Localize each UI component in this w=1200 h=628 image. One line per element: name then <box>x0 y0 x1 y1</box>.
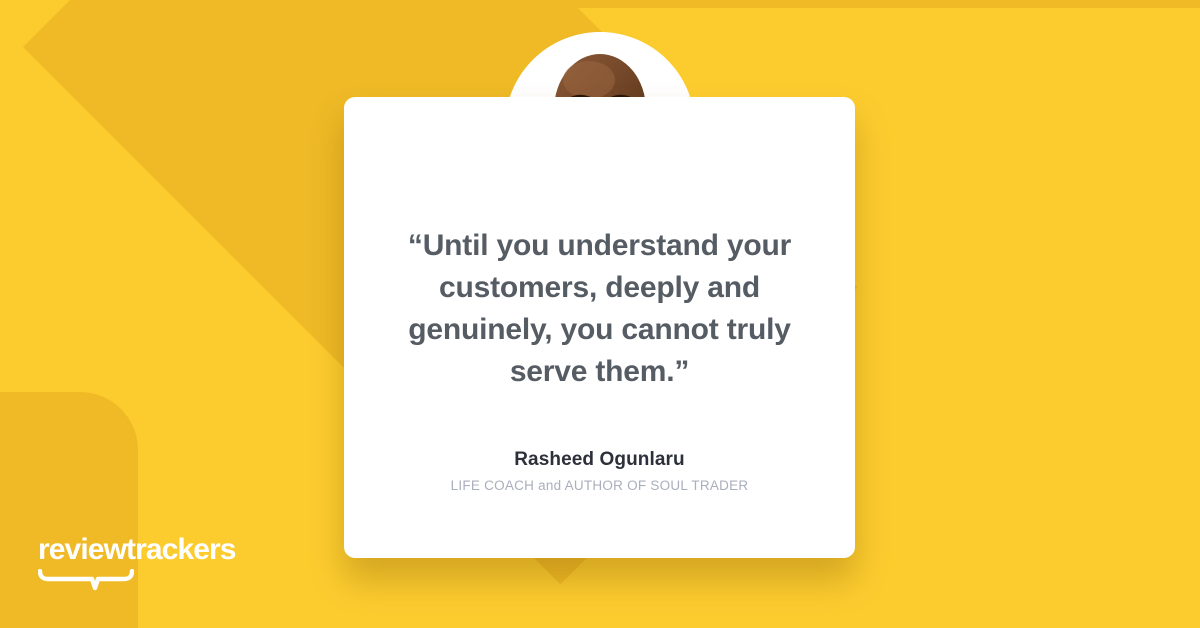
quote-card: “Until you understand your customers, de… <box>344 97 855 558</box>
author-role: LIFE COACH and AUTHOR OF SOUL TRADER <box>344 478 855 493</box>
background-top-band <box>500 0 1200 8</box>
speech-bubble-swoosh-icon <box>38 569 134 591</box>
reviewtrackers-logo[interactable]: reviewtrackers <box>38 533 236 591</box>
quote-graphic-canvas: “Until you understand your customers, de… <box>0 0 1200 628</box>
author-name: Rasheed Ogunlaru <box>344 449 855 471</box>
quote-text: “Until you understand your customers, de… <box>385 225 815 393</box>
background-bottom-left-shape <box>0 392 138 628</box>
logo-wordmark: reviewtrackers <box>38 533 236 567</box>
quote-attribution: Rasheed Ogunlaru LIFE COACH and AUTHOR O… <box>344 449 855 493</box>
